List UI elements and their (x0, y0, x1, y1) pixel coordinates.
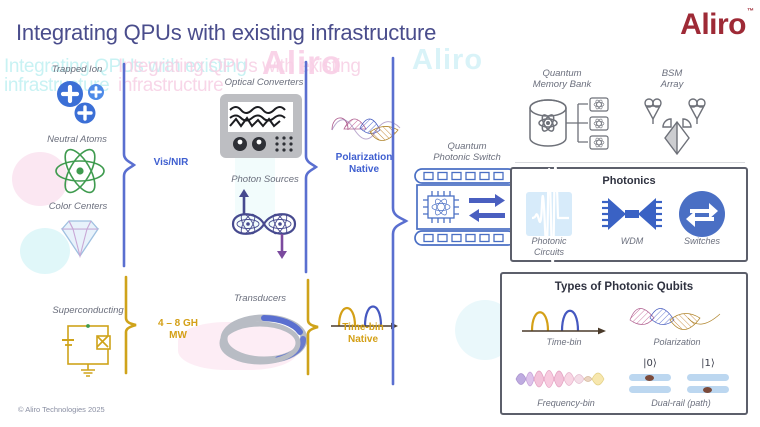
caption-transducers: Transducers (210, 293, 310, 304)
switches-label: Switches (667, 236, 737, 247)
frequency-bin-icon (514, 362, 618, 396)
dual-rail-0-bottom (629, 386, 671, 393)
photonic-circuit-icon (526, 192, 572, 236)
polarization-label: Polarization (635, 337, 719, 348)
timebin-label: Time-bin (524, 337, 604, 348)
dual-rail-1-top (687, 374, 729, 381)
dual-rail-ket-1: |1⟩ (688, 358, 728, 369)
quantum-memory-bank-icon (518, 96, 624, 158)
qubit-types-panel: Types of Photonic Qubits Time-bin (500, 272, 748, 415)
qubit-types-panel-title: Types of Photonic Qubits (502, 281, 746, 293)
aliro-logo: Aliro (680, 8, 746, 42)
photonics-panel: Photonics Photonic Circuits (510, 167, 748, 262)
caption-color-centers: Color Centers (30, 201, 126, 212)
top-right-divider (515, 162, 745, 163)
ghost-logo-cyan: Aliro (412, 44, 483, 77)
diamond-icon (56, 216, 104, 260)
frequency-bin-label: Frequency-bin (524, 398, 608, 409)
caption-quantum-photonic-switch: Quantum Photonic Switch (413, 141, 521, 163)
optical-converter-icon (219, 93, 303, 159)
caption-photon-sources: Photon Sources (215, 174, 315, 185)
neutral-atom-icon (54, 148, 106, 194)
quantum-photonic-switch-icon (413, 168, 517, 246)
dual-rail-label: Dual-rail (path) (639, 398, 723, 409)
photonic-circuits-label: Photonic Circuits (514, 236, 584, 257)
photon-source-icon (224, 188, 304, 260)
caption-quantum-memory-bank: Quantum Memory Bank (507, 68, 617, 90)
dual-rail-1-photon (703, 387, 712, 393)
photonics-panel-title: Photonics (512, 175, 746, 187)
switches-icon (678, 190, 726, 238)
copyright-text: © Aliro Technologies 2025 (18, 405, 105, 414)
superconducting-circuit-icon (60, 320, 118, 378)
caption-neutral-atoms: Neutral Atoms (28, 134, 126, 145)
label-microwave-band: 4 – 8 GH MW (146, 318, 210, 342)
label-vis-nir: Vis/NIR (141, 157, 201, 169)
polarization-wave-icon (628, 298, 724, 338)
slide-canvas: Integrating QPUs with existing infrastru… (0, 0, 760, 427)
caption-bsm-array: BSM Array (632, 68, 712, 90)
page-title: Integrating QPUs with existing infrastru… (16, 20, 436, 46)
caption-trapped-ion: Trapped Ion (32, 64, 122, 75)
dual-rail-ket-0: |0⟩ (630, 358, 670, 369)
bsm-array-icon (637, 98, 717, 158)
transducer-ring-icon (215, 308, 313, 370)
dual-rail-0-photon (645, 375, 654, 381)
wdm-icon (602, 192, 662, 236)
wdm-label: WDM (597, 236, 667, 247)
trapped-ion-icon (52, 78, 114, 126)
ghost-title-pink: Integrating QPUs with existing infrastru… (118, 57, 408, 95)
timebin-pulses-icon (520, 300, 610, 336)
trademark-mark: ™ (747, 8, 754, 15)
